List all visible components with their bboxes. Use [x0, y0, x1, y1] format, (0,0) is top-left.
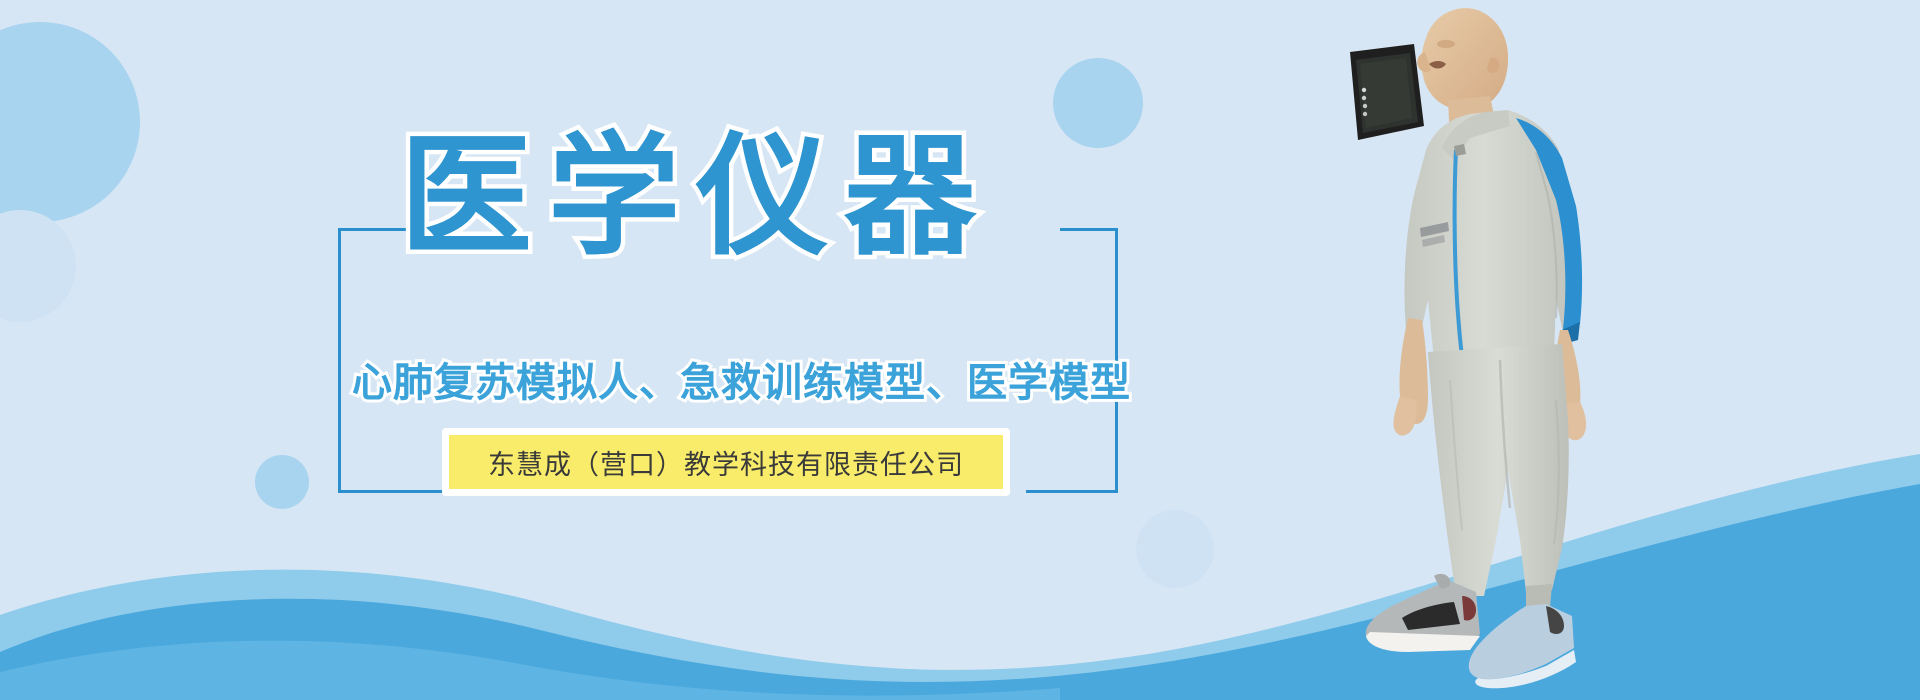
manikin-shoe-right — [1469, 604, 1576, 688]
medical-equipment-banner: 医学仪器 医学仪器 心肺复苏模拟人、急救训练模型、医学模型 心肺复苏模拟人、急救… — [0, 0, 1920, 700]
manikin-pants — [1428, 344, 1569, 596]
circle-left-mid — [0, 210, 76, 322]
company-name: 东慧成（营口）教学科技有限责任公司 — [488, 443, 964, 482]
company-name-bar: 东慧成（营口）教学科技有限责任公司 — [442, 428, 1010, 496]
page-title: 医学仪器 — [400, 130, 1100, 265]
circle-top-left-large — [0, 22, 140, 222]
manikin-jacket — [1405, 110, 1583, 364]
black-monitor-device — [1348, 44, 1426, 142]
manikin-head — [1417, 8, 1508, 110]
subtitle: 心肺复苏模拟人、急救训练模型、医学模型 — [352, 350, 1131, 408]
